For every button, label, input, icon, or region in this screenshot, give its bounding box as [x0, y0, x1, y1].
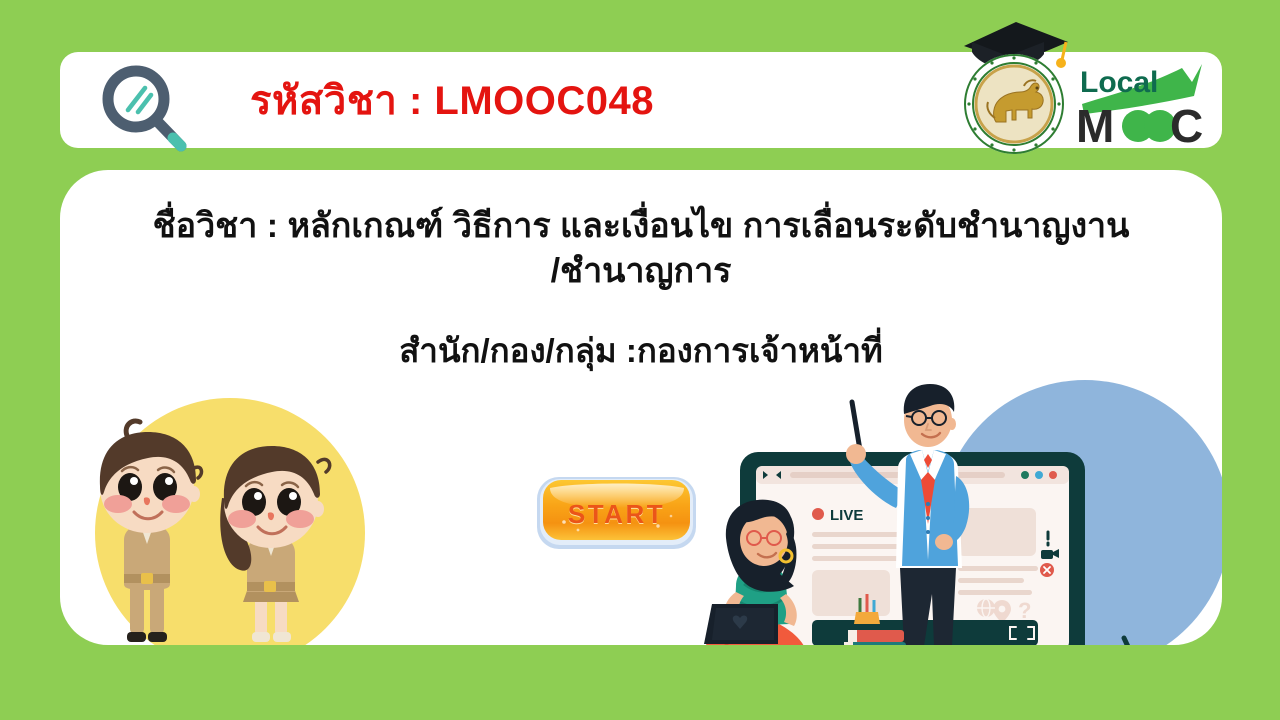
department-line: สำนัก/กอง/กลุ่ม :กองการเจ้าหน้าที่ [60, 330, 1222, 373]
course-title: ชื่อวิชา : หลักเกณฑ์ วิธีการ และเงื่อนไข… [60, 204, 1222, 294]
slide-canvas: รหัสวิชา : LMOOC048 [0, 0, 1280, 720]
svg-text:Local: Local [1080, 66, 1158, 99]
local-mooc-wordmark: Local M C [1074, 52, 1210, 148]
two-civil-servants-illustration [70, 388, 390, 645]
course-title-line-2: /ชำนาญการ [74, 249, 1208, 294]
online-learning-illustration: LIVE [700, 380, 1222, 645]
svg-text:C: C [1170, 100, 1203, 148]
course-title-line-1: ชื่อวิชา : หลักเกณฑ์ วิธีการ และเงื่อนไข… [74, 204, 1208, 249]
department-seal-icon [962, 52, 1066, 156]
brand-logo: Local M C [962, 30, 1212, 160]
svg-text:?: ? [1018, 598, 1031, 623]
start-button[interactable]: START [534, 470, 699, 555]
book-stack [844, 630, 906, 645]
header-card: รหัสวิชา : LMOOC048 [60, 52, 1222, 148]
svg-text:M: M [1076, 100, 1114, 148]
main-content-card: ชื่อวิชา : หลักเกณฑ์ วิธีการ และเงื่อนไข… [60, 170, 1222, 645]
course-code-label: รหัสวิชา : LMOOC048 [250, 68, 654, 132]
live-badge-text: LIVE [830, 507, 863, 524]
magnifying-glass-icon [93, 58, 197, 162]
student-figure [704, 500, 805, 645]
